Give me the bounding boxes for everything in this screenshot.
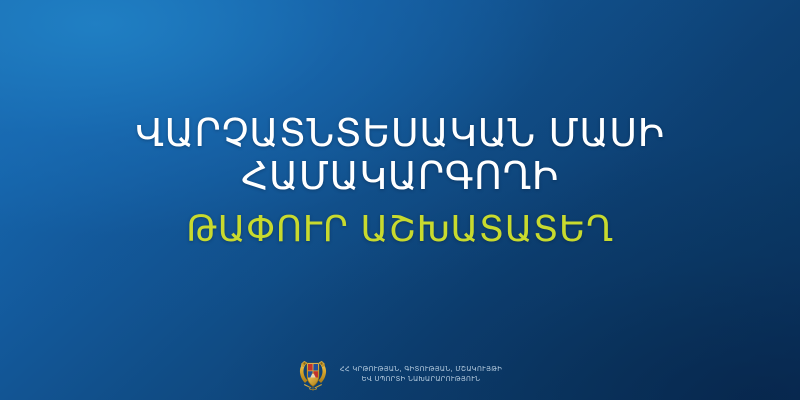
- announcement-banner: ՎԱՐՉԱՏՆՏԵՍԱԿԱՆ ՄԱՍԻ ՀԱՄԱԿԱՐԳՈՂԻ ԹԱՓՈՒՐ Ա…: [0, 0, 800, 400]
- ministry-lockup: ՀՀ ԿՐԹՈՒԹՅԱՆ, ԳԻՏՈՒԹՅԱՆ, ՄՇԱԿՈՒՅԹԻ ԵՎ ՍՊ…: [0, 357, 800, 391]
- ministry-name-line-1: ՀՀ ԿՐԹՈՒԹՅԱՆ, ԳԻՏՈՒԹՅԱՆ, ՄՇԱԿՈՒՅԹԻ: [340, 365, 502, 373]
- headline-line-1: ՎԱՐՉԱՏՆՏԵՍԱԿԱՆ ՄԱՍԻ: [0, 112, 800, 155]
- headline-line-3-vacancy: ԹԱՓՈՒՐ ԱՇԽԱՏԱՏԵՂ: [0, 210, 800, 250]
- ministry-name-line-2: ԵՎ ՍՊՈՐՏԻ ՆԱԽԱՐԱՐՈՒԹՅՈՒՆ: [362, 375, 481, 383]
- headline-line-2: ՀԱՄԱԿԱՐԳՈՂԻ: [0, 155, 800, 198]
- ministry-name: ՀՀ ԿՐԹՈՒԹՅԱՆ, ԳԻՏՈՒԹՅԱՆ, ՄՇԱԿՈՒՅԹԻ ԵՎ ՍՊ…: [340, 365, 502, 384]
- headline-block: ՎԱՐՉԱՏՆՏԵՍԱԿԱՆ ՄԱՍԻ ՀԱՄԱԿԱՐԳՈՂԻ ԹԱՓՈՒՐ Ա…: [0, 112, 800, 250]
- armenia-coat-of-arms-icon: [298, 357, 328, 391]
